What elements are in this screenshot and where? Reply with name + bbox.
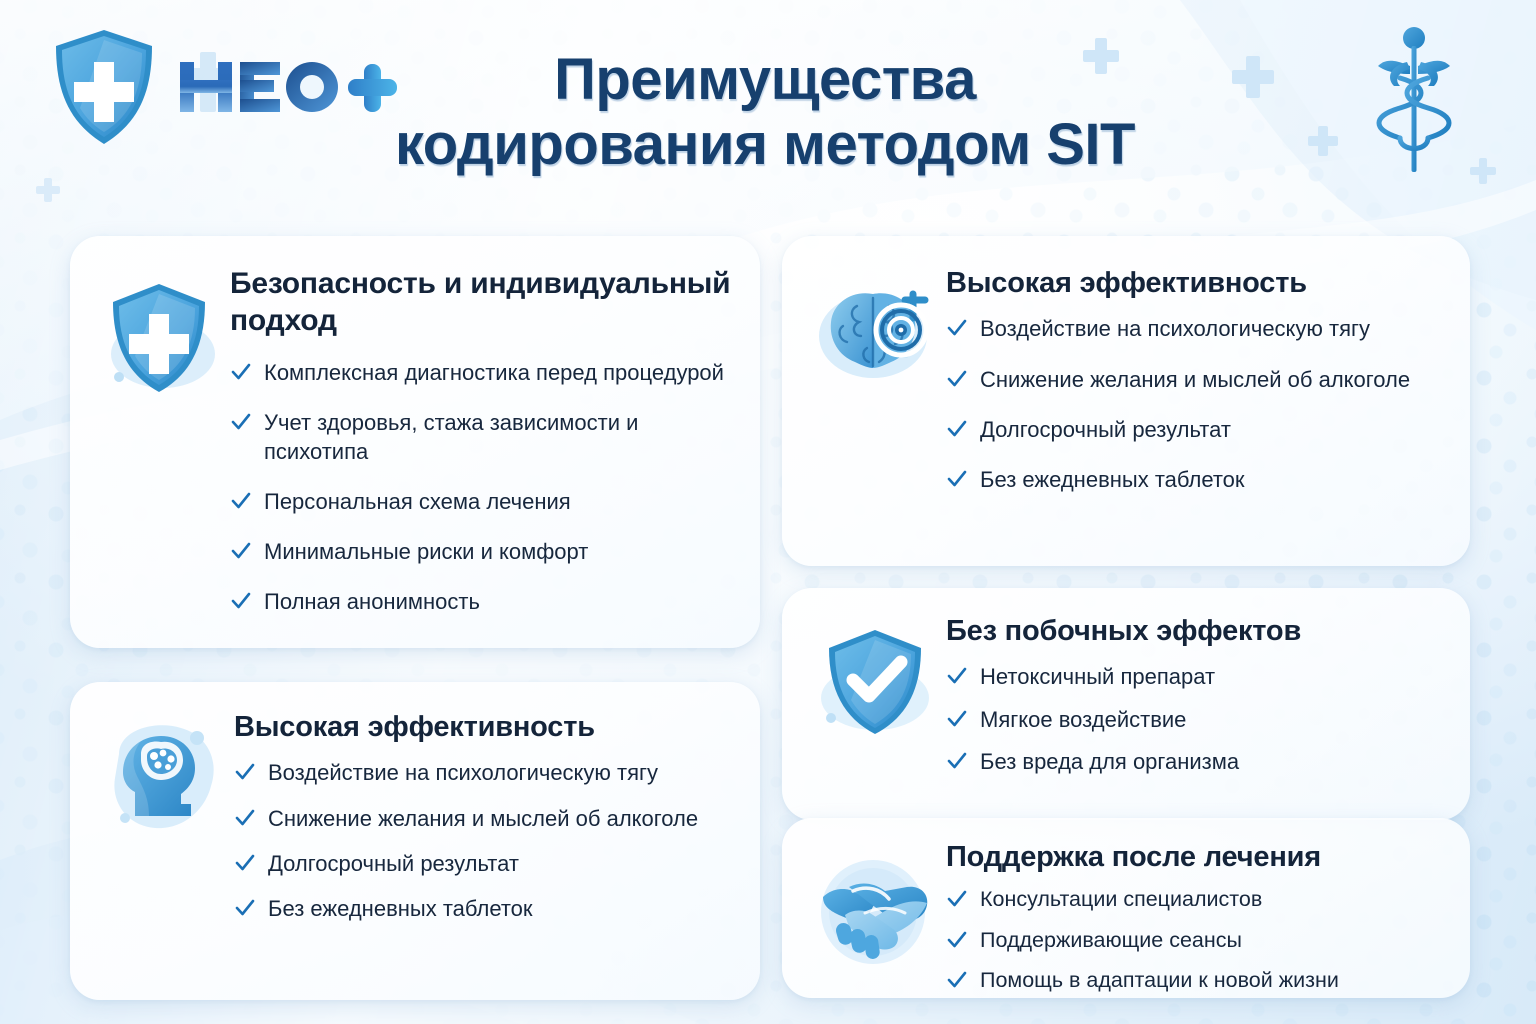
list-item: Без вреда для организма: [946, 748, 1444, 776]
card-body: Безопасность и индивидуальный подход Ком…: [230, 266, 734, 626]
check-icon: [946, 418, 968, 440]
title-line-2: кодирования методом SIT: [300, 113, 1230, 178]
list-item-text: Полная анонимность: [264, 589, 480, 614]
benefit-list: Воздействие на психологическую тягу Сниж…: [234, 759, 734, 923]
card-title: Высокая эффективность: [234, 710, 734, 745]
card-body: Высокая эффективность Воздействие на пси…: [234, 710, 734, 978]
list-item: Персональная схема лечения: [230, 488, 734, 516]
list-item-text: Долгосрочный результат: [980, 417, 1231, 442]
list-item: Минимальные риски и комфорт: [230, 538, 734, 566]
list-item-text: Учет здоровья, стажа зависимости и психо…: [264, 410, 638, 463]
poster-header: Преимущества кодирования методом SIT: [0, 0, 1536, 210]
list-item-text: Снижение желания и мыслей об алкоголе: [980, 367, 1410, 392]
card-body: Поддержка после лечения Консультации спе…: [946, 840, 1444, 984]
card-title: Высокая эффективность: [946, 266, 1444, 301]
list-item-text: Помощь в адаптации к новой жизни: [980, 968, 1339, 992]
list-item-text: Воздействие на психологическую тягу: [980, 316, 1370, 341]
list-item: Полная анонимность: [230, 588, 734, 616]
check-icon: [234, 807, 256, 829]
brain-target-icon: [809, 274, 941, 402]
card-effectiveness-left: Высокая эффективность Воздействие на пси…: [70, 682, 760, 1000]
card-icon-wrap: [804, 266, 946, 544]
list-item-text: Комплексная диагностика перед процедурой: [264, 360, 724, 385]
card-title: Поддержка после лечения: [946, 840, 1444, 875]
card-body: Без побочных эффектов Нетоксичный препар…: [946, 614, 1444, 798]
shield-cross-icon: [93, 274, 225, 402]
handshake-icon: [809, 853, 941, 971]
list-item: Поддерживающие сеансы: [946, 927, 1444, 955]
list-item: Нетоксичный препарат: [946, 663, 1444, 691]
list-item-text: Воздействие на психологическую тягу: [268, 760, 658, 785]
benefit-list: Нетоксичный препарат Мягкое воздействие …: [946, 663, 1444, 775]
check-icon: [234, 761, 256, 783]
card-body: Высокая эффективность Воздействие на пси…: [946, 266, 1444, 544]
check-icon: [234, 852, 256, 874]
check-icon: [946, 888, 968, 910]
check-icon: [946, 969, 968, 991]
list-item-text: Без ежедневных таблеток: [980, 467, 1245, 492]
list-item: Снижение желания и мыслей об алкоголе: [234, 805, 734, 833]
check-icon: [230, 411, 252, 433]
check-icon: [234, 897, 256, 919]
card-icon-wrap: [92, 710, 234, 978]
check-icon: [230, 490, 252, 512]
card-icon-wrap: [804, 840, 946, 984]
list-item-text: Минимальные риски и комфорт: [264, 539, 588, 564]
list-item: Комплексная диагностика перед процедурой: [230, 359, 734, 387]
list-item-text: Снижение желания и мыслей об алкоголе: [268, 806, 698, 831]
list-item-text: Без вреда для организма: [980, 749, 1239, 774]
card-title: Безопасность и индивидуальный подход: [230, 266, 734, 339]
list-item-text: Персональная схема лечения: [264, 489, 571, 514]
list-item: Долгосрочный результат: [946, 416, 1444, 444]
list-item: Консультации специалистов: [946, 886, 1444, 914]
caduceus-icon: [1374, 22, 1454, 182]
benefit-list: Консультации специалистов Поддерживающие…: [946, 886, 1444, 995]
list-item-text: Консультации специалистов: [980, 887, 1262, 911]
page-title: Преимущества кодирования методом SIT: [300, 48, 1230, 178]
check-icon: [946, 468, 968, 490]
list-item: Помощь в адаптации к новой жизни: [946, 967, 1444, 995]
card-icon-wrap: [804, 614, 946, 798]
list-item: Без ежедневных таблеток: [234, 895, 734, 923]
list-item-text: Мягкое воздействие: [980, 707, 1186, 732]
check-icon: [230, 590, 252, 612]
list-item: Снижение желания и мыслей об алкоголе: [946, 366, 1444, 394]
benefit-list: Комплексная диагностика перед процедурой…: [230, 359, 734, 616]
list-item-text: Поддерживающие сеансы: [980, 928, 1242, 952]
card-icon-wrap: [88, 266, 230, 626]
check-icon: [230, 361, 252, 383]
check-icon: [946, 708, 968, 730]
shield-check-icon: [809, 622, 941, 742]
check-icon: [946, 929, 968, 951]
list-item-text: Долгосрочный результат: [268, 851, 519, 876]
list-item: Долгосрочный результат: [234, 850, 734, 878]
infographic-poster: Преимущества кодирования методом SIT: [0, 0, 1536, 1024]
list-item-text: Нетоксичный препарат: [980, 664, 1215, 689]
check-icon: [946, 750, 968, 772]
list-item: Без ежедневных таблеток: [946, 466, 1444, 494]
card-title: Без побочных эффектов: [946, 614, 1444, 649]
card-support: Поддержка после лечения Консультации спе…: [782, 818, 1470, 998]
shield-cross-icon: [48, 26, 160, 148]
check-icon: [946, 665, 968, 687]
list-item: Мягкое воздействие: [946, 706, 1444, 734]
list-item: Учет здоровья, стажа зависимости и психо…: [230, 409, 734, 465]
card-no-side-effects: Без побочных эффектов Нетоксичный препар…: [782, 588, 1470, 820]
benefit-list: Воздействие на психологическую тягу Сниж…: [946, 315, 1444, 494]
list-item-text: Без ежедневных таблеток: [268, 896, 533, 921]
check-icon: [946, 368, 968, 390]
list-item: Воздействие на психологическую тягу: [234, 759, 734, 787]
title-line-1: Преимущества: [300, 48, 1230, 113]
card-safety: Безопасность и индивидуальный подход Ком…: [70, 236, 760, 648]
check-icon: [946, 317, 968, 339]
list-item: Воздействие на психологическую тягу: [946, 315, 1444, 343]
check-icon: [230, 540, 252, 562]
card-effectiveness-right: Высокая эффективность Воздействие на пси…: [782, 236, 1470, 566]
head-brain-icon: [97, 718, 229, 846]
